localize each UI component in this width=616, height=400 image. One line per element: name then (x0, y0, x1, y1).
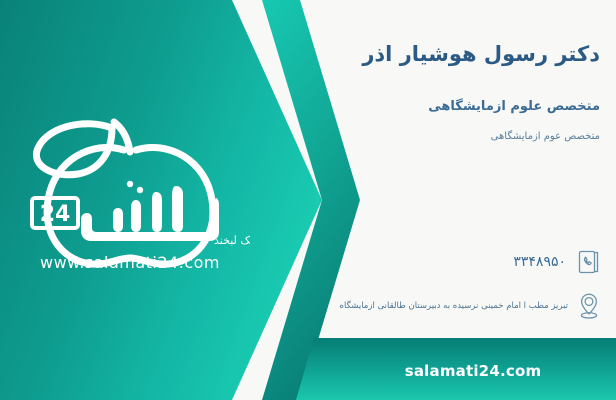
brand-logo: 24 به راحتی یک لبخند www.salamati24.com (18, 112, 250, 274)
badge-24: 24 (32, 198, 78, 228)
specialty-primary: متخصص علوم ازمایشگاهی (316, 98, 600, 116)
footer-site-label[interactable]: salamati24.com (330, 362, 616, 380)
card-content: دکتر رسول هوشیار اذر متخصص علوم ازمایشگا… (300, 0, 616, 400)
logo-url: www.salamati24.com (40, 253, 220, 272)
business-card: 24 به راحتی یک لبخند www.salamati24.com … (0, 0, 616, 400)
doctor-name: دکتر رسول هوشیار اذر (316, 40, 600, 68)
phone-number: ۳۳۴۸۹۵۰ (513, 254, 566, 270)
specialty-secondary: متخصص عوم ازمایشگاهی (316, 130, 600, 144)
logo-tagline: به راحتی یک لبخند (214, 234, 250, 247)
phone-row[interactable]: ۳۳۴۸۹۵۰ (513, 248, 602, 276)
brand-wordmark (81, 181, 219, 241)
address-row[interactable]: تبریز مطب ا امام خمینی نرسیده به دبیرستا… (312, 292, 602, 320)
phone-book-icon (576, 248, 602, 276)
location-pin-icon (576, 292, 602, 320)
apple-outline-icon (36, 122, 212, 264)
badge-24-label: 24 (40, 202, 71, 227)
address-text: تبریز مطب ا امام خمینی نرسیده به دبیرستا… (312, 300, 568, 313)
